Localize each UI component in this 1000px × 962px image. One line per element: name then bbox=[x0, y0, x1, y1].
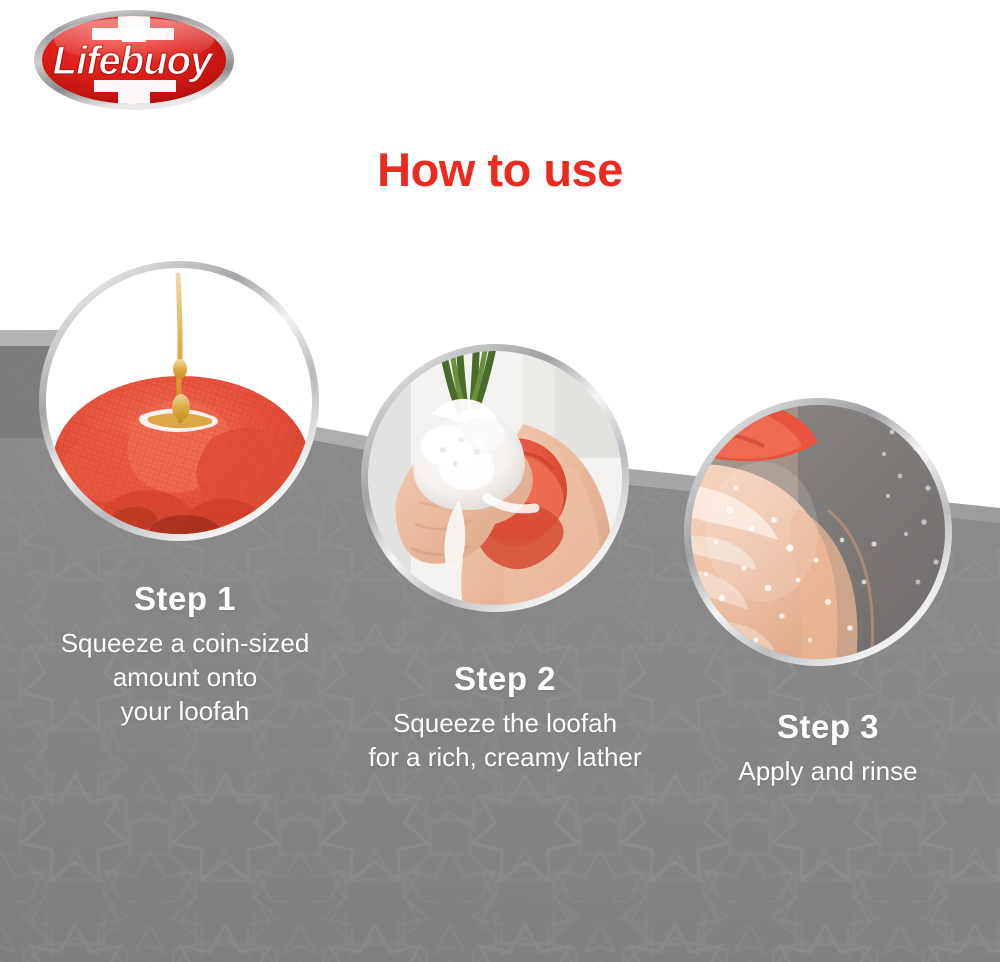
step-3-photo bbox=[678, 392, 958, 672]
logo-wordmark: Lifebuoy bbox=[53, 39, 214, 83]
step-2-photo bbox=[355, 338, 635, 618]
step-2-desc-line-2: for a rich, creamy lather bbox=[335, 741, 675, 775]
step-1-desc-line-2: amount onto bbox=[20, 661, 350, 695]
step-1-caption: Step 1 Squeeze a coin-sized amount onto … bbox=[20, 580, 350, 728]
step-2-description: Squeeze the loofah for a rich, creamy la… bbox=[335, 707, 675, 775]
step-2-caption: Step 2 Squeeze the loofah for a rich, cr… bbox=[335, 660, 675, 775]
step-1-title: Step 1 bbox=[20, 580, 350, 618]
step-3-desc-line-1: Apply and rinse bbox=[668, 755, 988, 789]
svg-text:Lifebuoy: Lifebuoy bbox=[53, 39, 214, 83]
step-2-title: Step 2 bbox=[335, 660, 675, 698]
step-3-description: Apply and rinse bbox=[668, 755, 988, 789]
how-to-use-infographic: Lifebuoy How to use bbox=[0, 0, 1000, 962]
lifebuoy-logo: Lifebuoy bbox=[22, 6, 242, 111]
step-3-image bbox=[678, 392, 958, 672]
step-1-image bbox=[35, 257, 323, 545]
step-1-desc-line-1: Squeeze a coin-sized bbox=[20, 627, 350, 661]
step-3-title: Step 3 bbox=[668, 708, 988, 746]
step-1-description: Squeeze a coin-sized amount onto your lo… bbox=[20, 627, 350, 728]
step-2-desc-line-1: Squeeze the loofah bbox=[335, 707, 675, 741]
step-3-caption: Step 3 Apply and rinse bbox=[668, 708, 988, 789]
step-2-image bbox=[355, 338, 635, 618]
step-1-desc-line-3: your loofah bbox=[20, 695, 350, 729]
step-1-photo bbox=[35, 257, 323, 545]
page-title: How to use bbox=[0, 144, 1000, 196]
